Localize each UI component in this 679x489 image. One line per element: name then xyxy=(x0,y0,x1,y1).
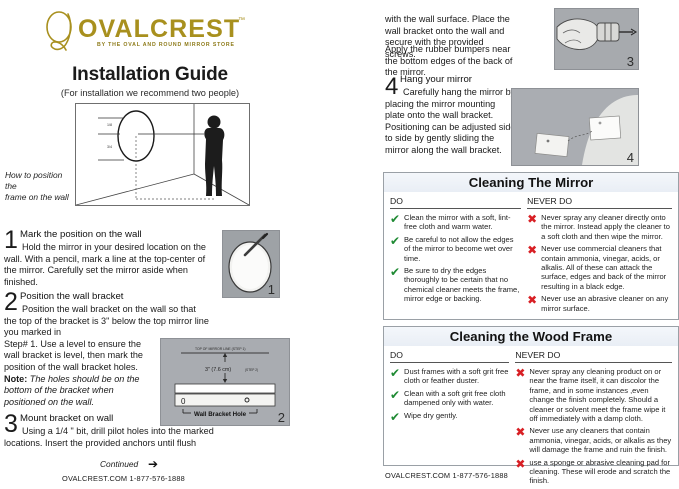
step-2-body-wrapped: Step# 1. Use a level to ensure the wall … xyxy=(4,339,154,374)
mirror-do-item-3: Be sure to dry the edges thoroughly to b… xyxy=(404,266,521,304)
cross-icon: ✖ xyxy=(515,426,529,454)
section-mirror-title: Cleaning The Mirror xyxy=(469,175,594,190)
list-item: ✔ Be sure to dry the edges thoroughly to… xyxy=(390,266,521,304)
check-icon: ✔ xyxy=(390,411,404,422)
check-icon: ✔ xyxy=(390,367,404,386)
list-item: ✔ Clean with a soft grit free cloth damp… xyxy=(390,389,509,408)
panel-1-number: 1 xyxy=(268,282,275,297)
list-item: ✔ Be careful to not allow the edges of t… xyxy=(390,235,521,263)
mirror-do-item-1: Clean the mirror with a soft, lint-free … xyxy=(404,213,521,232)
mirror-never-header: NEVER DO xyxy=(527,196,672,209)
svg-text:0: 0 xyxy=(181,397,186,406)
wood-never-item-3: use a sponge or abrasive cleaning pad fo… xyxy=(529,458,672,486)
list-item: ✔ Clean the mirror with a soft, lint-fre… xyxy=(390,213,521,232)
mirror-never-item-1: Never spray any cleaner directly onto th… xyxy=(541,213,672,241)
wood-do-header: DO xyxy=(390,350,509,363)
continued-label: Continued xyxy=(100,459,138,469)
mirror-do-column: DO ✔ Clean the mirror with a soft, lint-… xyxy=(390,196,527,316)
right-column: with the wall surface. Place the wall br… xyxy=(383,0,679,489)
cross-icon: ✖ xyxy=(515,367,529,423)
list-item: ✖ Never use any cleaners that contain am… xyxy=(515,426,672,454)
cross-icon: ✖ xyxy=(527,294,541,313)
step-2-heading: Position the wall bracket xyxy=(20,291,123,302)
svg-text:(STEP 2): (STEP 2) xyxy=(245,368,258,372)
oval-script-monogram-icon xyxy=(42,10,82,52)
check-icon: ✔ xyxy=(390,235,404,263)
room-position-diagram: 1/8 3/4 xyxy=(75,103,250,206)
wood-do-column: DO ✔ Dust frames with a soft grit free c… xyxy=(390,350,515,489)
installation-guide-page: OVALCREST ™ BY THE OVAL AND ROUND MIRROR… xyxy=(0,0,679,489)
list-item: ✖ Never use an abrasive cleaner on any m… xyxy=(527,294,672,313)
brand-wordmark: OVALCREST xyxy=(78,15,240,44)
list-item: ✔ Dust frames with a soft grit free clot… xyxy=(390,367,509,386)
step-2-body-lead: Position the wall bracket on the wall so… xyxy=(4,304,209,337)
list-item: ✖ Never spray any cleaning product on or… xyxy=(515,367,672,423)
brand-tagline: BY THE OVAL AND ROUND MIRROR STORE xyxy=(97,42,235,48)
section-wood-title: Cleaning the Wood Frame xyxy=(450,329,612,344)
page-subtitle: (For installation we recommend two peopl… xyxy=(0,88,300,98)
page-title: Installation Guide xyxy=(0,64,300,86)
section-cleaning-the-mirror: Cleaning The Mirror DO ✔ Clean the mirro… xyxy=(383,172,679,320)
check-icon: ✔ xyxy=(390,266,404,304)
panel-2-bracket-diagram: TOP OF MIRROR LINE (STEP 1) 3" (7.6 cm) … xyxy=(160,338,290,426)
brand-logo: OVALCREST ™ BY THE OVAL AND ROUND MIRROR… xyxy=(42,8,282,54)
section-cleaning-the-wood-frame: Cleaning the Wood Frame DO ✔ Dust frames… xyxy=(383,326,679,466)
check-icon: ✔ xyxy=(390,389,404,408)
panel-3-number: 3 xyxy=(627,54,634,69)
step-4-heading: Hang your mirror xyxy=(400,74,472,85)
check-icon: ✔ xyxy=(390,213,404,232)
step-2-note-label: Note: xyxy=(4,374,27,384)
step-1-body: Hold the mirror in your desired location… xyxy=(4,242,209,288)
diagram-caption: How to position the frame on the wall xyxy=(5,170,73,203)
panel-2-number: 2 xyxy=(278,410,285,425)
step-3-body: Using a 1/4 " bit, drill pilot holes int… xyxy=(4,426,219,449)
wood-do-item-2: Clean with a soft grit free cloth dampen… xyxy=(404,389,509,408)
step-3-heading: Mount bracket on wall xyxy=(20,413,113,424)
mirror-do-header: DO xyxy=(390,196,521,209)
wood-never-column: NEVER DO ✖ Never spray any cleaning prod… xyxy=(515,350,672,489)
cross-icon: ✖ xyxy=(527,213,541,241)
arrow-right-icon: ➔ xyxy=(148,457,158,471)
wood-never-item-1: Never spray any cleaning product on or n… xyxy=(529,367,672,423)
panel-1-oval-mirror-photo: 1 xyxy=(222,230,280,298)
list-item: ✖ Never use commercial cleaners that con… xyxy=(527,244,672,291)
wood-never-item-2: Never use any cleaners that contain ammo… xyxy=(529,426,672,454)
panel-4-number: 4 xyxy=(627,150,634,165)
list-item: ✖ use a sponge or abrasive cleaning pad … xyxy=(515,458,672,486)
panel-3-drill-photo: 3 xyxy=(554,8,639,70)
footer-contact-right: OVALCREST.COM 1-877-576-1888 xyxy=(385,471,508,480)
step-2-note: Note: The holes should be on the bottom … xyxy=(4,374,154,409)
diagram-caption-text: How to position the frame on the wall xyxy=(5,170,69,202)
section-wood-header: Cleaning the Wood Frame xyxy=(384,327,678,346)
step-4-body: Carefully hang the mirror by placing the… xyxy=(385,87,517,157)
svg-text:3" (7.6 cm): 3" (7.6 cm) xyxy=(205,367,231,373)
section-mirror-header: Cleaning The Mirror xyxy=(384,173,678,192)
svg-text:3/4: 3/4 xyxy=(107,145,112,149)
step-1-heading: Mark the position on the wall xyxy=(20,229,142,240)
list-item: ✖ Never spray any cleaner directly onto … xyxy=(527,213,672,241)
list-item: ✔ Wipe dry gently. xyxy=(390,411,509,422)
cross-icon: ✖ xyxy=(515,458,529,486)
left-column: OVALCREST ™ BY THE OVAL AND ROUND MIRROR… xyxy=(0,0,372,489)
svg-text:1/8: 1/8 xyxy=(107,123,112,127)
wood-do-item-1: Dust frames with a soft grit free cloth … xyxy=(404,367,509,386)
mirror-never-item-3: Never use an abrasive cleaner on any mir… xyxy=(541,294,672,313)
mirror-do-item-2: Be careful to not allow the edges of the… xyxy=(404,235,521,263)
footer-contact-left: OVALCREST.COM 1-877-576-1888 xyxy=(62,474,185,483)
trademark-symbol: ™ xyxy=(238,17,245,24)
cross-icon: ✖ xyxy=(527,244,541,291)
mirror-never-item-2: Never use commercial cleaners that conta… xyxy=(541,244,672,291)
mirror-never-column: NEVER DO ✖ Never spray any cleaner direc… xyxy=(527,196,672,316)
svg-text:Wall Bracket Hole: Wall Bracket Hole xyxy=(194,411,247,418)
svg-text:TOP OF MIRROR LINE (STEP 1): TOP OF MIRROR LINE (STEP 1) xyxy=(195,347,246,351)
wood-do-item-3: Wipe dry gently. xyxy=(404,411,458,422)
section-mirror-columns: DO ✔ Clean the mirror with a soft, lint-… xyxy=(384,192,678,316)
wood-never-header: NEVER DO xyxy=(515,350,672,363)
panel-4-mounting-plate-photo: 4 xyxy=(511,88,639,166)
section-wood-columns: DO ✔ Dust frames with a soft grit free c… xyxy=(384,346,678,489)
